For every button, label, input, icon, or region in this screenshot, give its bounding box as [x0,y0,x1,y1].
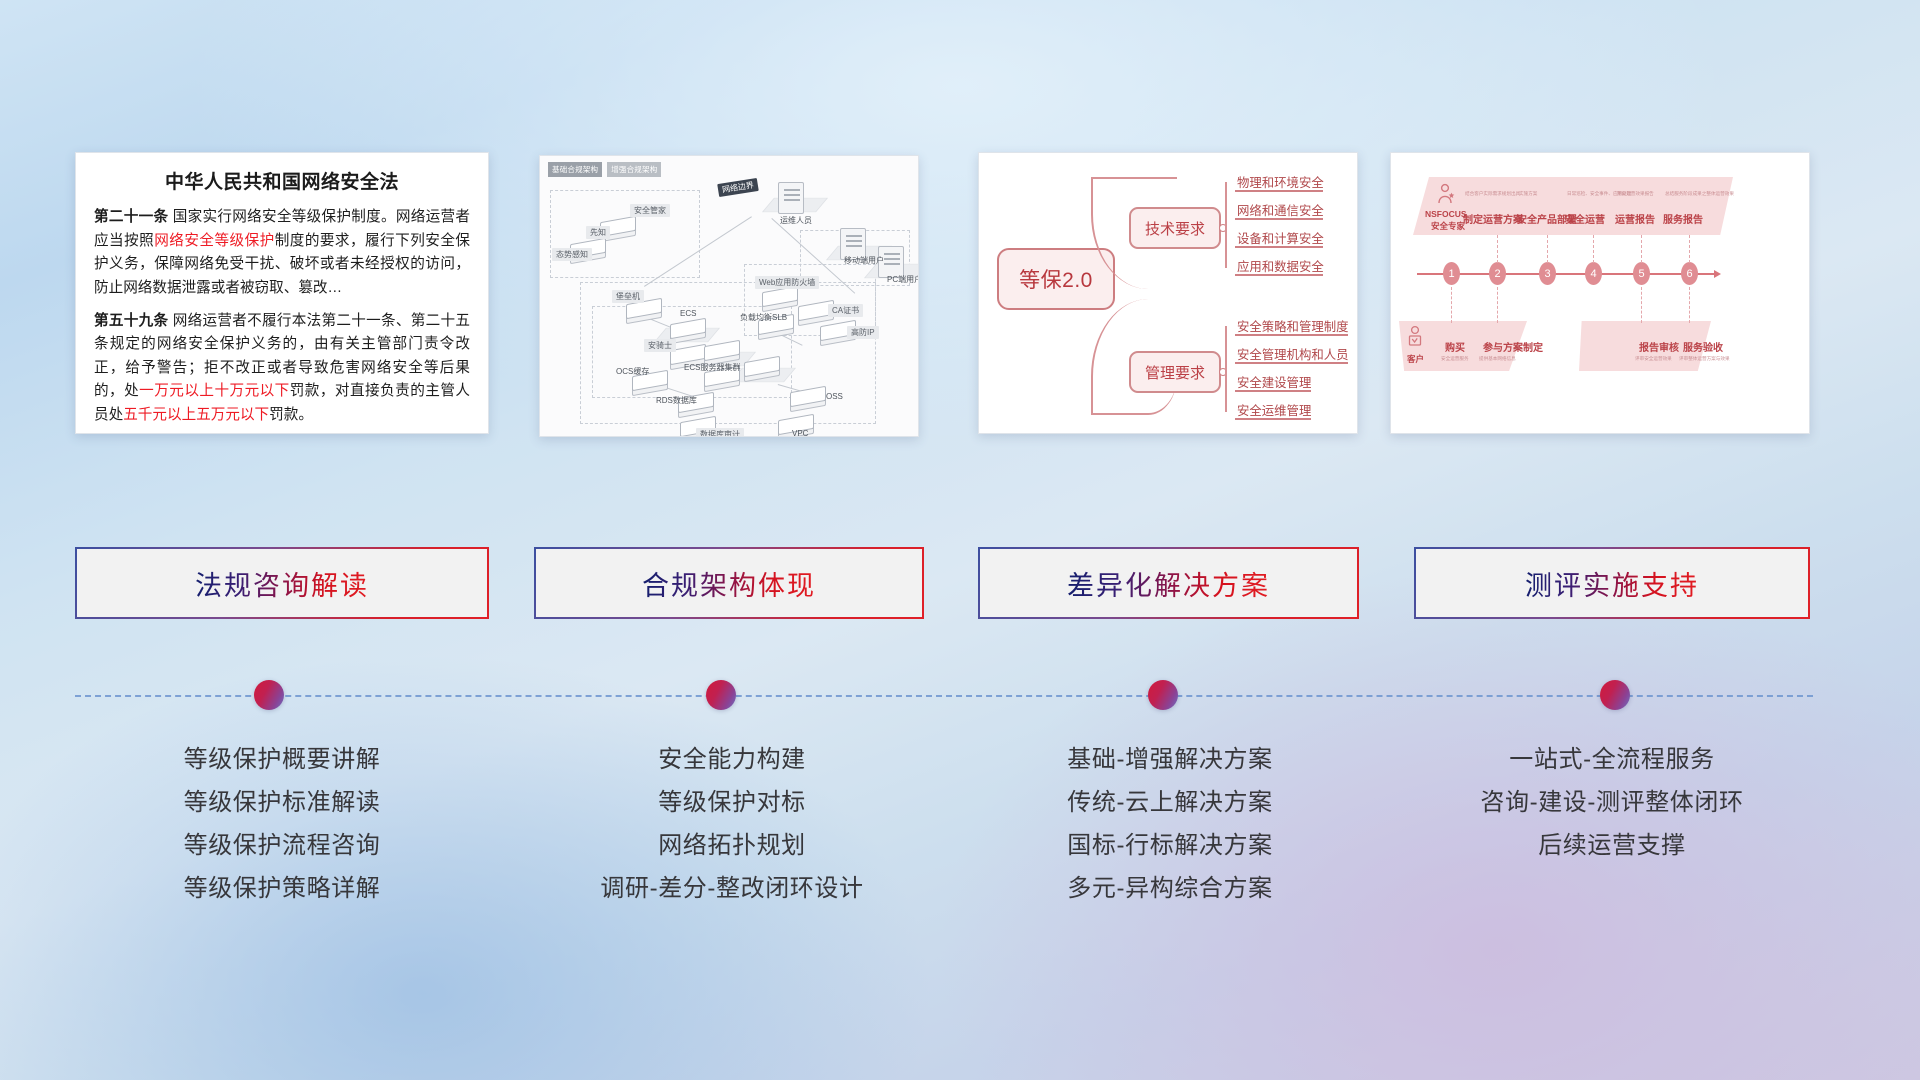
law-title: 中华人民共和国网络安全法 [94,167,470,194]
bullet-column-1: 等级保护概要讲解等级保护标准解读等级保护流程咨询等级保护策略详解 [75,748,489,920]
process-bottom-title: 报告审核 [1639,339,1679,354]
process-top-title: 服务报告 [1663,211,1703,226]
customer-icon [1405,325,1425,351]
process-bottom-subtitle: 安全运营服务 [1441,356,1469,362]
headline-label-2: 合规架构体现 [642,564,816,603]
card-service-process: NSFOCUS 安全专家 客户 123456 结合客户实际需求规划出具制定运营方… [1390,152,1810,434]
bullet-item: 调研-差分-整改闭环设计 [525,877,939,901]
bullet-column-2: 安全能力构建等级保护对标网络拓扑规划调研-差分-整改闭环设计 [525,748,939,920]
mindmap-leaf-label: 安全策略和管理制度 [1237,317,1349,335]
headline-label-1: 法规咨询解读 [195,564,369,603]
security-expert-icon [1435,183,1459,207]
mindmap-leaf-underline [1235,190,1323,192]
headline-box-3[interactable]: 差异化解决方案 [978,547,1359,619]
process-connector [1593,235,1594,263]
arch-node-label: 数据库审计 [696,428,744,437]
headline-frame: 差异化解决方案 [978,547,1359,619]
arch-node-label: Web应用防火墙 [755,276,819,289]
arch-node-label: 网络边界 [717,178,759,197]
law-article: 第五十九条 网络运营者不履行本法第二十一条、第二十五条规定的网络安全保护义务的，… [94,310,470,428]
bullet-item: 安全能力构建 [525,748,939,772]
architecture-tab-enhanced[interactable]: 增强合规架构 [607,162,661,177]
slide-canvas: 中华人民共和国网络安全法 第二十一条 国家实行网络安全等级保护制度。网络运营者应… [0,0,1920,1080]
process-connector [1641,235,1642,263]
process-top-subtitle: 实施方案 [1519,191,1537,197]
process-bottom-subtitle: 评审整体运营方案与效果 [1679,356,1730,362]
headline-label-4: 测评实施支持 [1525,564,1699,603]
process-customer-role: 客户 [1407,353,1424,365]
arch-node-server [778,182,804,214]
arch-node-label: OCS缓存 [612,365,653,378]
architecture-tabs: 基础合规架构 增强合规架构 [548,162,661,177]
arch-node-label: 堡垒机 [612,290,644,303]
law-text: 罚款。 [269,407,313,423]
bullet-item: 后续运营支撑 [1405,834,1819,858]
bullet-item: 等级保护策略详解 [75,877,489,901]
mindmap-leaf-underline [1235,334,1348,336]
arch-node-label: 运维人员 [776,214,816,227]
bullet-item: 咨询-建设-测评整体闭环 [1405,791,1819,815]
mindmap-leaf-label: 安全运维管理 [1237,401,1311,419]
arch-node-label: ECS [676,308,700,319]
arch-node-label: VPC [788,428,812,437]
law-article-label: 第五十九条 [94,313,168,329]
arch-node-cylinder [762,288,796,310]
arch-node-label: 负载均衡SLB [736,311,791,324]
arch-node-label: 高防IP [847,326,879,339]
arch-node-label: 安骑士 [644,339,676,352]
process-bottom-subtitle: 提供基本网络信息 [1479,356,1516,362]
arch-node-label: CA证书 [828,304,863,317]
timeline-dot-2[interactable] [706,680,736,710]
architecture-tab-basic[interactable]: 基础合规架构 [548,162,602,177]
mindmap-leaf-label: 应用和数据安全 [1237,257,1324,275]
arch-node-cylinder [626,300,660,322]
process-top-subtitle: 结合客户实际需求规划出具 [1465,191,1520,197]
bullet-column-4: 一站式-全流程服务咨询-建设-测评整体闭环后续运营支撑 [1405,748,1819,877]
process-top-title: 安全运营 [1565,211,1605,226]
process-step-3[interactable]: 3 [1539,262,1556,285]
mindmap-leaf-underline [1235,362,1348,364]
bullet-item: 国标-行标解决方案 [963,834,1377,858]
process-bottom-title: 服务验收 [1683,339,1723,354]
bullet-item: 等级保护概要讲解 [75,748,489,772]
process-top-title: 制定运营方案 [1463,211,1523,226]
arch-node-cylinder [790,388,824,410]
bullet-item: 多元-异构综合方案 [963,877,1377,901]
mindmap-leaf-label: 物理和环境安全 [1237,173,1324,191]
process-connector [1451,287,1452,323]
process-axis [1417,273,1715,275]
card-cybersecurity-law: 中华人民共和国网络安全法 第二十一条 国家实行网络安全等级保护制度。网络运营者应… [75,152,489,434]
mindmap-root: 等保2.0 [997,248,1115,310]
process-bottom-title: 参与方案制定 [1483,339,1543,354]
headline-frame: 测评实施支持 [1414,547,1810,619]
bullet-column-3: 基础-增强解决方案传统-云上解决方案国标-行标解决方案多元-异构综合方案 [963,748,1377,920]
arch-node-label: RDS数据库 [652,394,701,407]
process-connector [1641,287,1642,323]
process-connector [1689,235,1690,263]
headline-box-4[interactable]: 测评实施支持 [1414,547,1810,619]
mindmap-leaf-label: 安全管理机构和人员 [1237,345,1349,363]
headline-frame: 法规咨询解读 [75,547,489,619]
process-connector [1497,235,1498,263]
timeline-dot-4[interactable] [1600,680,1630,710]
mindmap-leaf-underline [1235,418,1311,420]
bullet-item: 网络拓扑规划 [525,834,939,858]
process-bottom-subtitle: 评审安全运营效果 [1635,356,1672,362]
law-highlight-text: 五千元以上五万元以下 [123,407,269,423]
mindmap-leaf-connector [1225,226,1237,268]
mindmap-leaf-underline [1235,274,1323,276]
law-highlight-text: 一万元以上十万元以下 [139,383,290,399]
process-expert-role: 安全专家 [1431,220,1465,232]
mindmap-leaf-label: 设备和计算安全 [1237,229,1324,247]
card-compliance-architecture: 基础合规架构 增强合规架构 [539,155,919,437]
process-connector [1547,235,1548,263]
arch-node-cylinder [798,302,832,324]
mindmap-leaf-underline [1235,390,1311,392]
headline-frame: 合规架构体现 [534,547,924,619]
bullet-item: 基础-增强解决方案 [963,748,1377,772]
card-mindmap-dengbao: 等保2.0 技术要求 管理要求 物理和环境安全网络和通信安全设备和计算安全应用和… [978,152,1358,434]
timeline-dashed-line [75,695,1813,697]
arch-node-label: OSS [822,391,847,402]
bullet-item: 传统-云上解决方案 [963,791,1377,815]
process-top-subtitle: 阶段运营效果报告 [1617,191,1654,197]
process-top-title: 运营报告 [1615,211,1655,226]
process-connector [1497,287,1498,323]
bullet-item: 等级保护对标 [525,791,939,815]
arch-node-label: PC端用户 [883,273,919,286]
headline-label-3: 差异化解决方案 [1067,564,1270,603]
bullet-item: 一站式-全流程服务 [1405,748,1819,772]
process-step-2[interactable]: 2 [1489,262,1506,285]
process-step-6[interactable]: 6 [1681,262,1698,285]
process-top-subtitle: 总结服务阶段成果之整体运营效果 [1665,191,1734,197]
headline-box-1[interactable]: 法规咨询解读 [75,547,489,619]
mindmap-leaf-label: 网络和通信安全 [1237,201,1324,219]
timeline-dot-1[interactable] [254,680,284,710]
arch-node-cylinder [744,358,778,380]
arch-node-label: 安全管家 [630,204,670,217]
bullet-item: 等级保护标准解读 [75,791,489,815]
timeline-dot-3[interactable] [1148,680,1178,710]
process-connector [1689,287,1690,323]
bullet-item: 等级保护流程咨询 [75,834,489,858]
law-article-label: 第二十一条 [94,209,168,225]
law-article: 第二十一条 国家实行网络安全等级保护制度。网络运营者应当按照网络安全等级保护制度… [94,206,470,301]
process-step-4[interactable]: 4 [1585,262,1602,285]
arch-node-label: ECS服务器集群 [680,361,744,374]
process-bottom-title: 购买 [1445,339,1465,354]
headline-box-2[interactable]: 合规架构体现 [534,547,924,619]
mindmap-branch-management: 管理要求 [1129,351,1221,393]
mindmap-branch-technical: 技术要求 [1129,207,1221,249]
arch-node-label: 移动端用户 [840,254,888,267]
mindmap-leaf-underline [1235,246,1323,248]
mindmap-leaf-label: 安全建设管理 [1237,373,1311,391]
mindmap-leaf-underline [1235,218,1323,220]
arch-node-label: 态势感知 [552,248,592,261]
process-step-1[interactable]: 1 [1443,262,1460,285]
law-body: 第二十一条 国家实行网络安全等级保护制度。网络运营者应当按照网络安全等级保护制度… [94,206,470,428]
process-expert-name: NSFOCUS [1425,209,1467,219]
arch-node-label: 先知 [586,226,610,239]
law-highlight-text: 网络安全等级保护 [154,233,274,249]
process-step-5[interactable]: 5 [1633,262,1650,285]
mindmap-leaf-connector [1225,370,1237,412]
